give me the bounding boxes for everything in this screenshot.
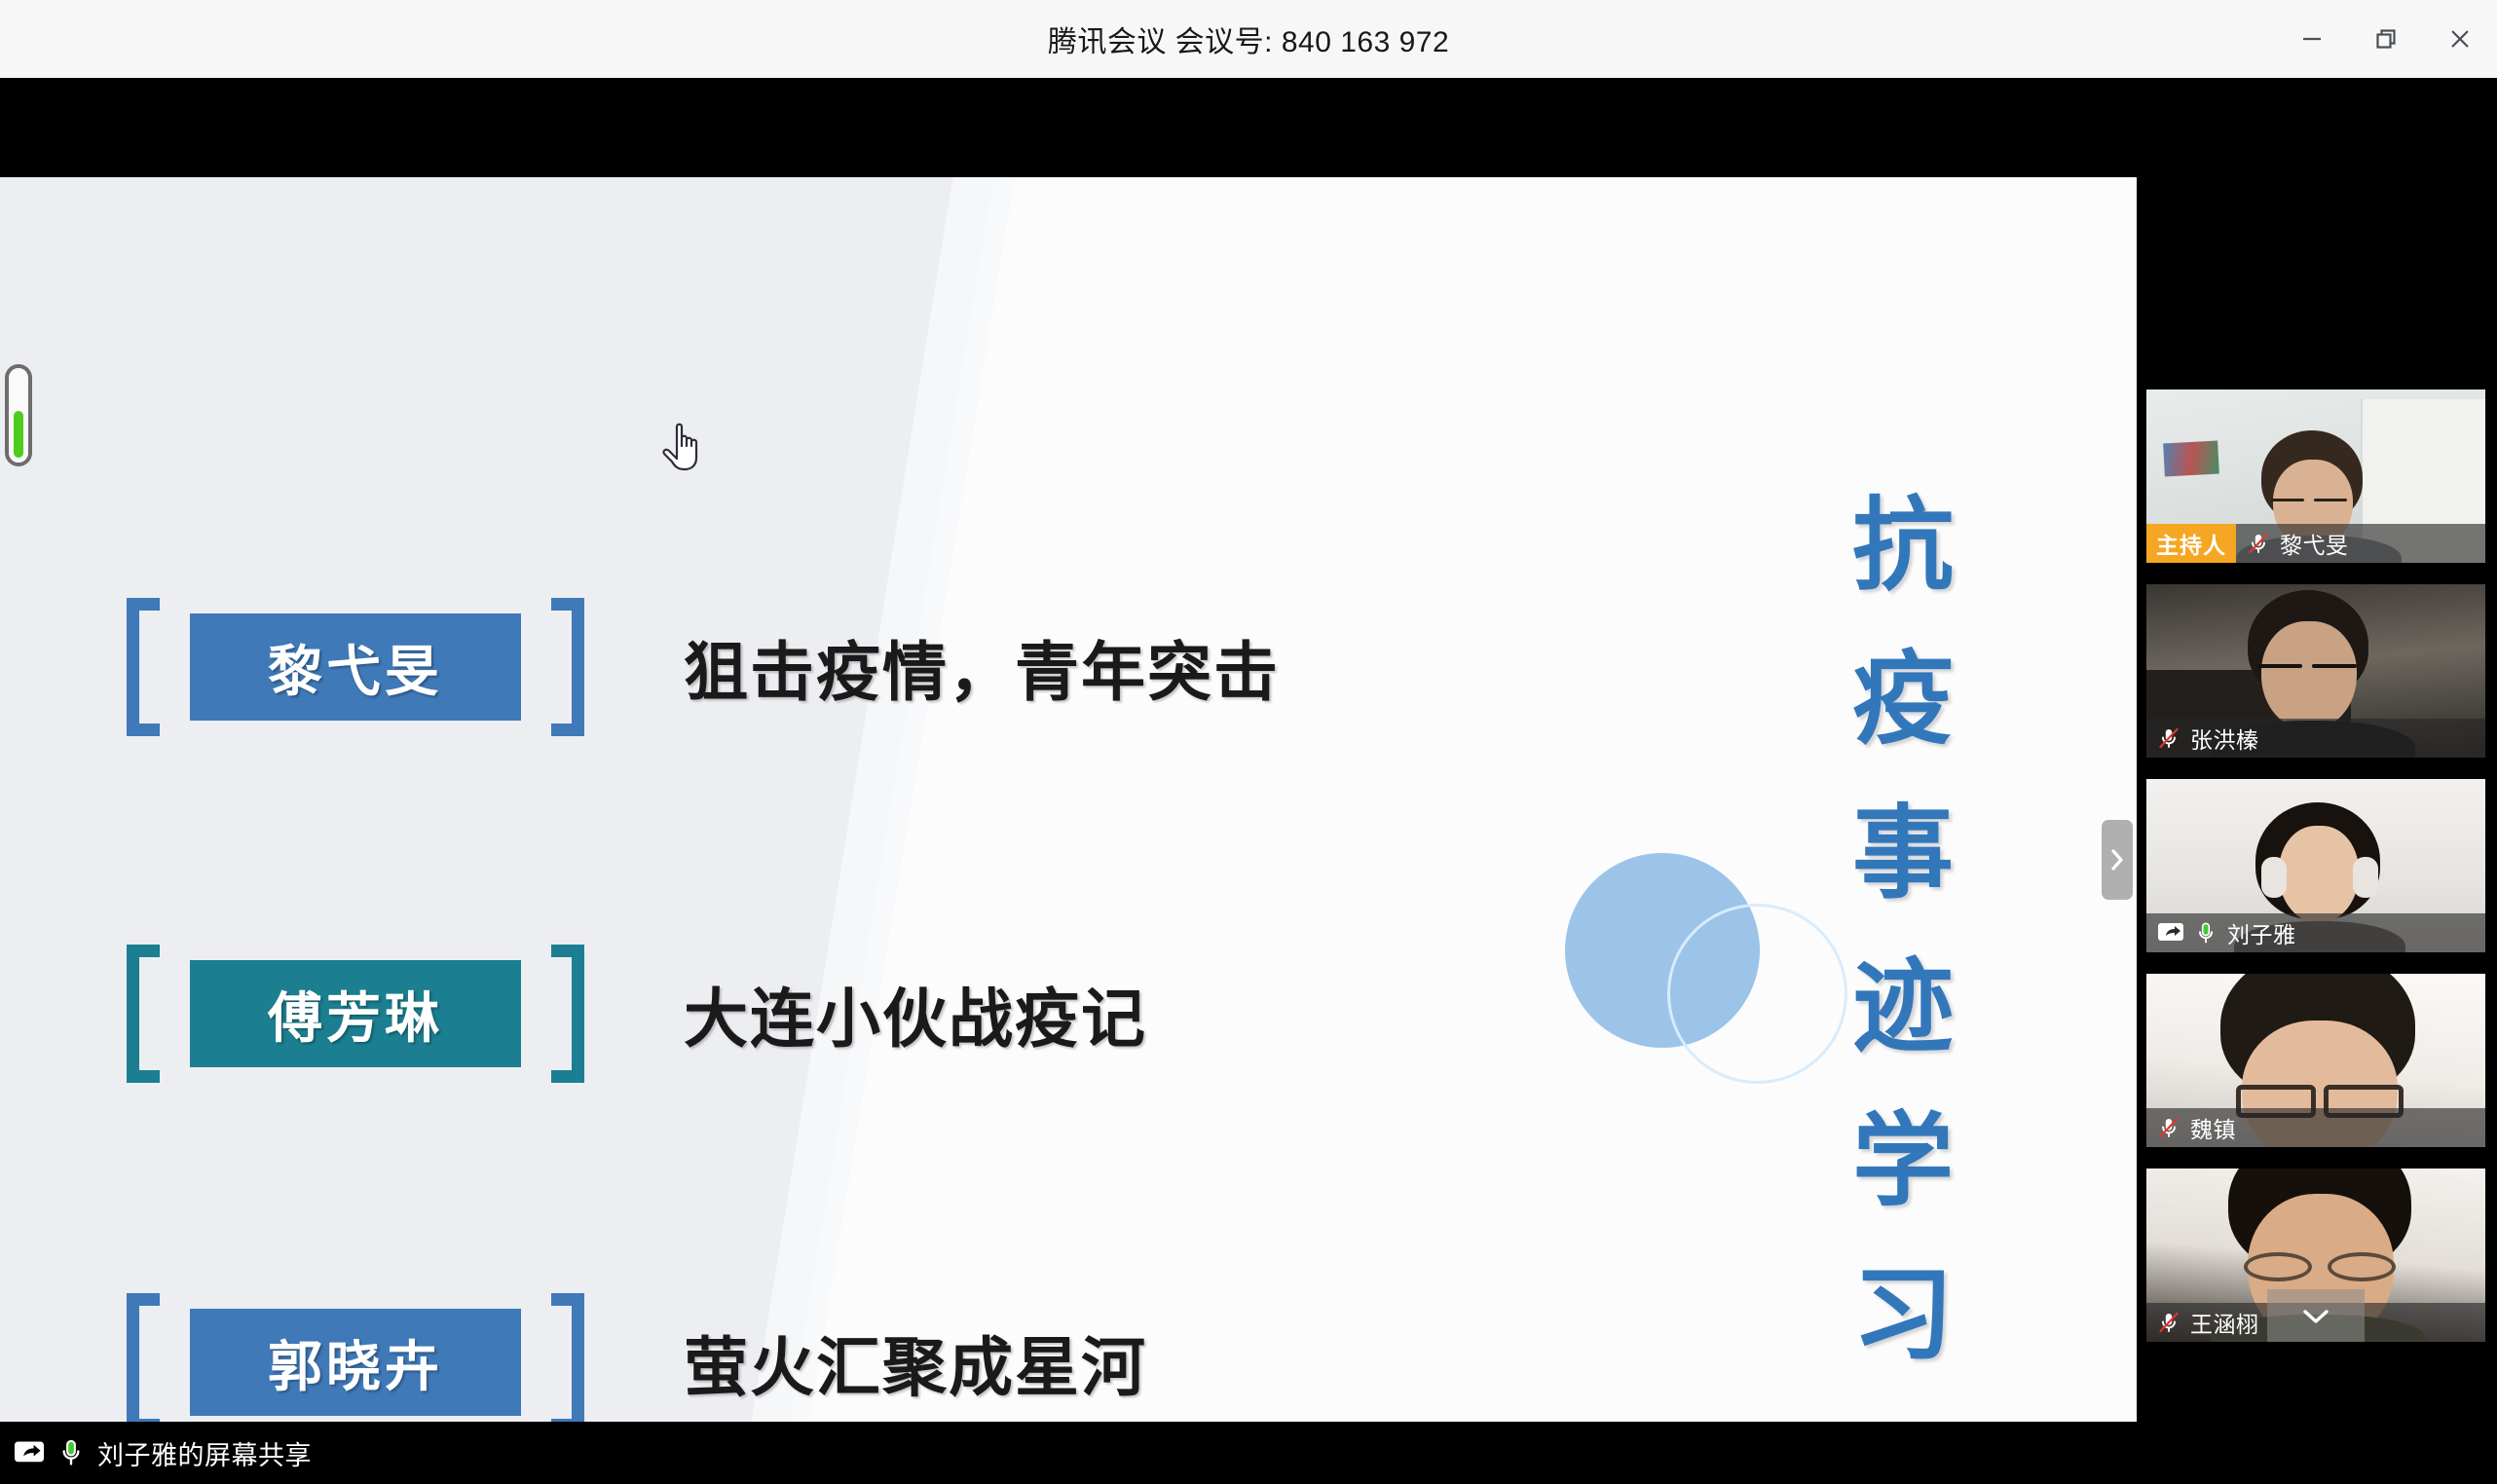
chevron-down-icon [2296, 1304, 2335, 1329]
participant-tile[interactable]: 王涵栩 [2146, 1169, 2485, 1342]
mic-level-fill [14, 411, 23, 458]
window-title-bar: 腾讯会议 会议号: 840 163 972 [0, 0, 2497, 78]
participant-name: 魏镇 [2190, 1111, 2236, 1144]
participant-tile[interactable]: 主持人 黎弋旻 [2146, 390, 2485, 563]
host-badge: 主持人 [2146, 524, 2236, 563]
mic-on-icon[interactable] [56, 1437, 86, 1468]
hand-pointer-cursor [660, 421, 707, 475]
bracket-right-icon [551, 945, 584, 1083]
participant-tile[interactable]: 张洪榛 [2146, 584, 2485, 758]
participant-name: 王涵栩 [2190, 1306, 2259, 1339]
mic-muted-icon [2156, 1310, 2181, 1335]
restore-button[interactable] [2349, 0, 2423, 78]
participant-info-bar: 张洪榛 [2146, 719, 2485, 758]
bracket-left-icon [127, 598, 160, 736]
speaker-topic-title: 萤火汇聚成星河 [684, 1316, 1147, 1409]
participant-name: 黎弋旻 [2280, 527, 2349, 560]
screen-share-icon [2156, 920, 2185, 946]
participant-status-icons [2236, 531, 2271, 556]
close-button[interactable] [2423, 0, 2497, 78]
speaker-topic-title: 狙击疫情，青年突击 [684, 620, 1280, 714]
speaker-name-chip: 傅芳琳 [190, 960, 521, 1067]
meeting-title: 腾讯会议 会议号: 840 163 972 [1048, 18, 1449, 60]
slide-vertical-headline: 抗 疫 事 迹 学 习 [1839, 469, 1967, 1392]
status-bar-icons [12, 1437, 86, 1468]
speaker-name-bracket: 郭晓卉 [127, 1293, 584, 1431]
bracket-left-icon [127, 1293, 160, 1431]
participant-info-bar: 主持人 黎弋旻 [2146, 524, 2485, 563]
participant-tile[interactable]: 魏镇 [2146, 974, 2485, 1147]
meeting-body: 黎弋旻 狙击疫情，青年突击 傅芳琳 大连小伙战疫记 郭晓卉 [0, 78, 2497, 1484]
screen-share-icon[interactable] [12, 1438, 47, 1467]
participant-status-icons [2146, 1310, 2181, 1335]
speaker-name-bracket: 傅芳琳 [127, 945, 584, 1083]
participant-name: 张洪榛 [2190, 722, 2259, 755]
participant-video-strip[interactable]: 主持人 黎弋旻 [2146, 390, 2485, 1344]
bottom-status-bar: 刘子雅的屏幕共享 [0, 1422, 2497, 1484]
participant-info-bar: 刘子雅 [2146, 913, 2485, 952]
mic-muted-icon [2156, 1115, 2181, 1140]
vertical-title-char: 疫 [1852, 623, 1954, 777]
slide-row: 郭晓卉 萤火汇聚成星河 [127, 1293, 1147, 1431]
speaker-name-chip: 郭晓卉 [190, 1309, 521, 1416]
shared-screen-stage[interactable]: 黎弋旻 狙击疫情，青年突击 傅芳琳 大连小伙战疫记 郭晓卉 [0, 177, 2137, 1457]
participant-name: 刘子雅 [2227, 916, 2296, 949]
mic-level-meter [5, 364, 32, 466]
bracket-right-icon [551, 598, 584, 736]
mic-muted-icon [2156, 725, 2181, 751]
vertical-title-char: 学 [1852, 1085, 1954, 1239]
speaker-name-chip: 黎弋旻 [190, 613, 521, 721]
participant-tile[interactable]: 刘子雅 [2146, 779, 2485, 952]
bracket-right-icon [551, 1293, 584, 1431]
speaker-topic-title: 大连小伙战疫记 [684, 967, 1147, 1060]
scroll-down-button[interactable] [2267, 1289, 2365, 1342]
vertical-title-char: 事 [1852, 777, 1954, 931]
slide-speaker-rows: 黎弋旻 狙击疫情，青年突击 傅芳琳 大连小伙战疫记 郭晓卉 [0, 177, 2137, 1457]
vertical-title-char: 抗 [1852, 469, 1954, 623]
window-controls [2275, 0, 2497, 78]
bracket-left-icon [127, 945, 160, 1083]
vertical-title-char: 迹 [1852, 931, 1954, 1085]
slide-row: 黎弋旻 狙击疫情，青年突击 [127, 598, 1280, 736]
participant-status-icons [2146, 920, 2218, 946]
screen-share-status-text: 刘子雅的屏幕共享 [97, 1434, 312, 1472]
chevron-right-icon [2107, 845, 2127, 874]
participant-status-icons [2146, 725, 2181, 751]
minimize-button[interactable] [2275, 0, 2349, 78]
vertical-title-char: 习 [1852, 1239, 1954, 1392]
participant-info-bar: 魏镇 [2146, 1108, 2485, 1147]
mic-on-icon [2193, 920, 2218, 946]
participant-status-icons [2146, 1115, 2181, 1140]
collapse-panel-tab[interactable] [2102, 820, 2133, 900]
speaker-name-bracket: 黎弋旻 [127, 598, 584, 736]
slide-row: 傅芳琳 大连小伙战疫记 [127, 945, 1147, 1083]
mic-muted-icon [2246, 531, 2271, 556]
